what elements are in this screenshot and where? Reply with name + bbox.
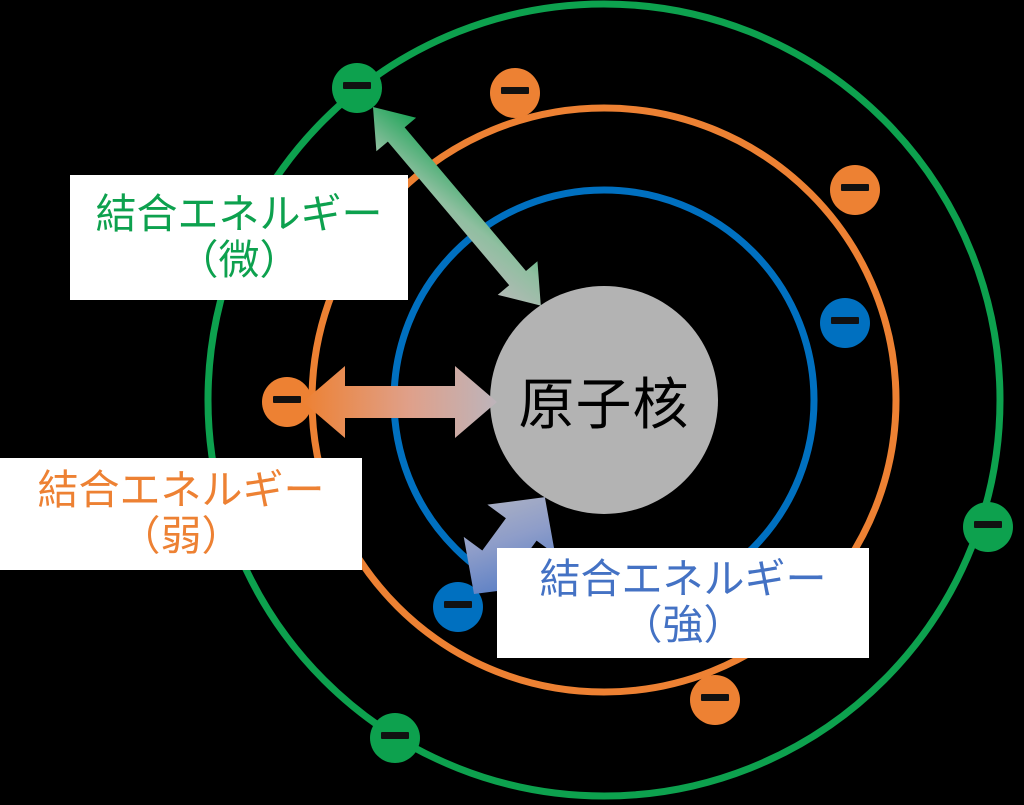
electron-middle-2 <box>830 165 880 215</box>
nucleus-label: 原子核 <box>494 362 714 438</box>
electron-outer-2 <box>963 502 1013 552</box>
electron-inner-1 <box>820 298 870 348</box>
label-binding-energy-weak: 結合エネルギー （弱） <box>0 458 362 570</box>
electron-middle-1 <box>490 68 540 118</box>
electron-middle-4 <box>690 675 740 725</box>
label-weakest-line2: （微） <box>178 238 301 284</box>
label-strong-line1: 結合エネルギー <box>540 557 827 603</box>
diagram-canvas: 原子核 結合エネルギー （微） 結合エネルギー （弱） 結合エネルギー （強） <box>0 0 1024 805</box>
electron-outer-1 <box>332 63 382 113</box>
label-weak-line2: （弱） <box>120 514 243 560</box>
label-binding-energy-strong: 結合エネルギー （強） <box>497 548 869 658</box>
label-weak-line1: 結合エネルギー <box>38 468 325 514</box>
label-strong-line2: （強） <box>622 603 745 649</box>
electron-outer-3 <box>370 713 420 763</box>
label-binding-energy-weakest: 結合エネルギー （微） <box>70 175 408 300</box>
binding-arrow-middle <box>303 366 497 438</box>
label-weakest-line1: 結合エネルギー <box>96 192 383 238</box>
